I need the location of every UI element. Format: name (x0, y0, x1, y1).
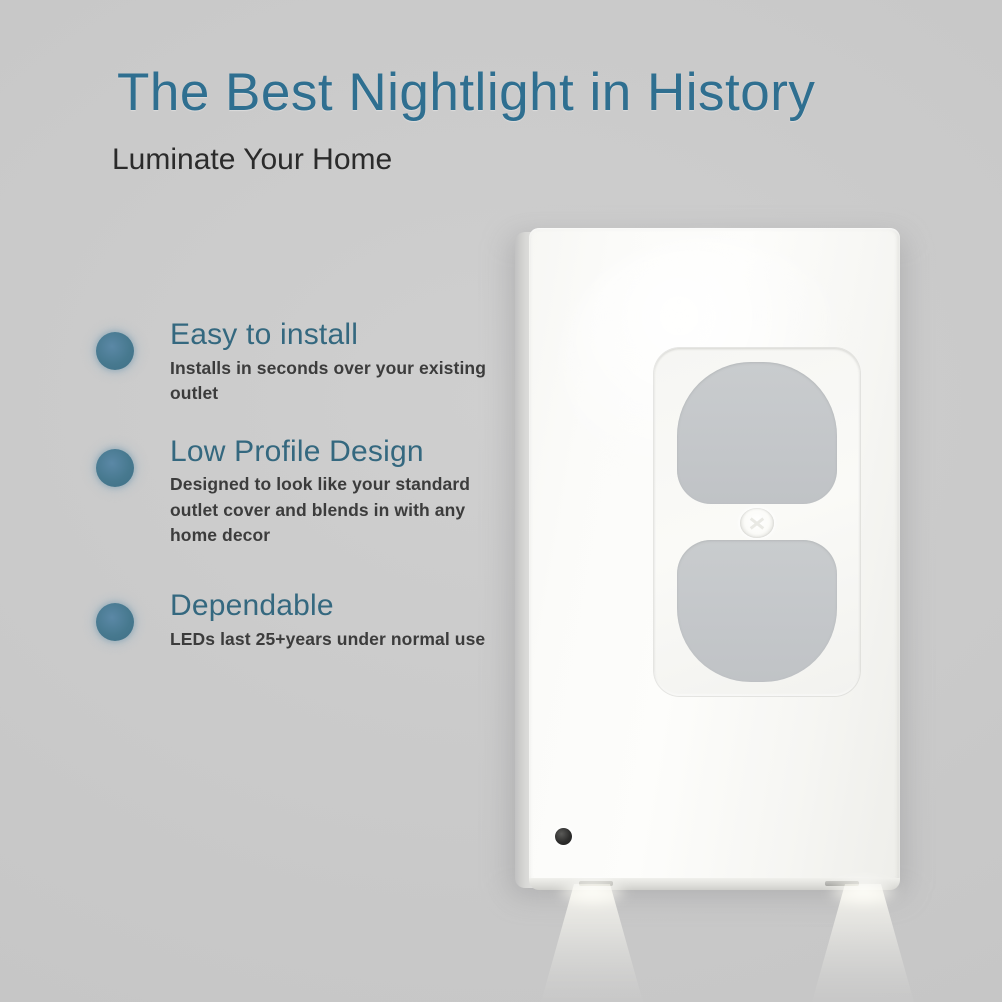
feature-description: LEDs last 25+years under normal use (170, 627, 510, 653)
duplex-recess-panel (654, 348, 860, 696)
page-subtitle: Luminate Your Home (112, 143, 392, 177)
feature-title: Low Profile Design (170, 435, 510, 469)
beam-cone (788, 884, 938, 1002)
feature-list: Easy to install Installs in seconds over… (80, 316, 510, 678)
feature-title: Easy to install (170, 318, 510, 352)
feature-bullet (80, 316, 150, 386)
center-screw (740, 508, 774, 538)
right-led-beam (788, 884, 938, 1002)
led-nightlight-outlet-cover-plate (515, 228, 900, 890)
filled-circle-icon (96, 603, 134, 641)
outlet-cover-plate (529, 228, 900, 888)
filled-circle-icon (96, 449, 134, 487)
feature-item-dependable: Dependable LEDs last 25+years under norm… (80, 587, 510, 652)
top-outlet-cutout (677, 362, 837, 504)
feature-item-low-profile-design: Low Profile Design Designed to look like… (80, 433, 510, 549)
feature-bullet (80, 433, 150, 503)
light-sensor-dot (555, 828, 572, 845)
feature-description: Designed to look like your standard outl… (170, 472, 510, 549)
left-led-slot (579, 881, 613, 886)
feature-title: Dependable (170, 589, 510, 623)
bottom-outlet-cutout (677, 540, 837, 682)
filled-circle-icon (96, 332, 134, 370)
product-feature-graphic: The Best Nightlight in History Luminate … (0, 0, 1002, 1002)
left-led-beam (517, 884, 667, 1002)
feature-bullet (80, 587, 150, 657)
feature-description: Installs in seconds over your existing o… (170, 356, 500, 407)
feature-item-easy-to-install: Easy to install Installs in seconds over… (80, 316, 510, 407)
beam-cone (517, 884, 667, 1002)
right-led-slot (825, 881, 859, 886)
page-title: The Best Nightlight in History (117, 62, 815, 123)
